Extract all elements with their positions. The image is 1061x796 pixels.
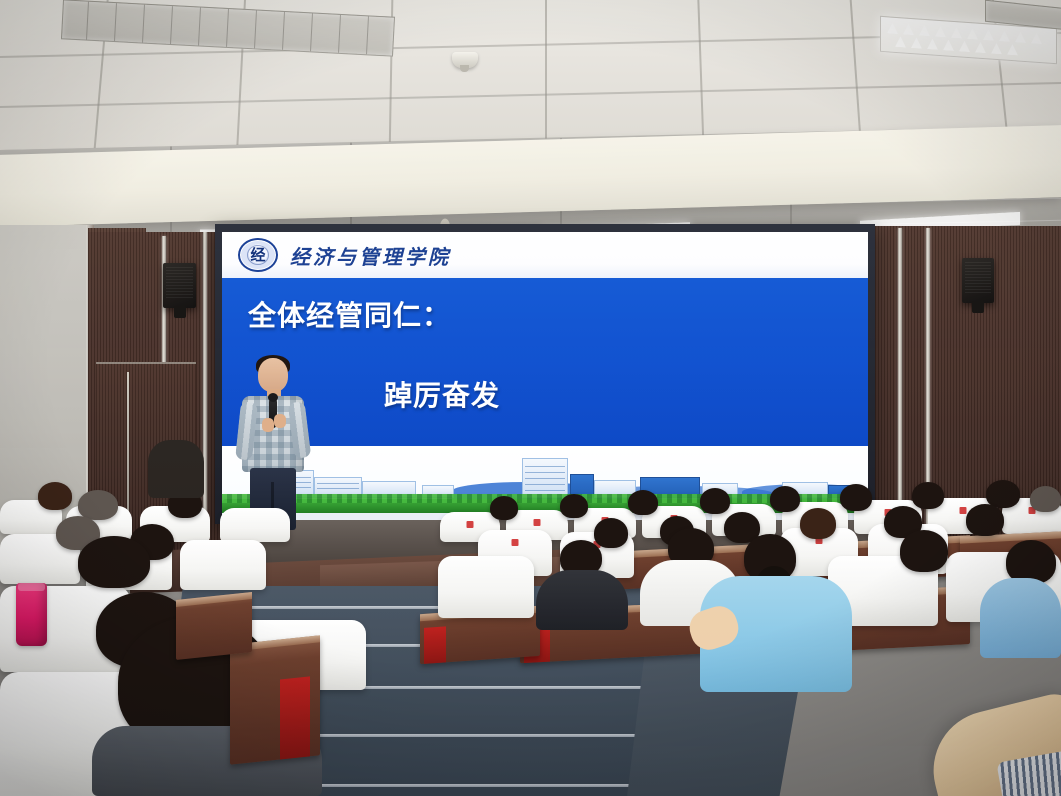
emblem-glyph: 经	[250, 248, 265, 263]
attendee-head	[594, 518, 628, 548]
attendee-head	[840, 484, 872, 511]
slide-header: 经 经济与管理学院	[222, 232, 868, 278]
attendee-head	[912, 482, 944, 509]
slide-body: 全体经管同仁： 踔厉奋发 笃行不怠 攻坚克难 全员参与 全情投入 全力以赴	[222, 278, 868, 446]
desk	[230, 635, 320, 764]
wall-speaker-right	[962, 258, 994, 303]
chair	[220, 508, 290, 542]
recessed-light-panel	[61, 0, 395, 57]
presenter-hand-right	[274, 414, 286, 428]
desk	[176, 592, 252, 660]
attendee-dark-clothing	[148, 440, 204, 498]
attendee-shoulders	[980, 578, 1061, 658]
chair	[438, 556, 534, 618]
university-emblem-icon: 经	[238, 238, 278, 272]
chair	[180, 540, 266, 590]
attendee-head	[986, 480, 1020, 508]
lecture-hall-photo: 经 经济与管理学院 全体经管同仁： 踔厉奋发 笃行不怠 攻坚克难 全员参与 全情…	[0, 0, 1061, 796]
presentation-screen: 经 经济与管理学院 全体经管同仁： 踔厉奋发 笃行不怠 攻坚克难 全员参与 全情…	[222, 232, 868, 520]
attendee-head	[1030, 486, 1061, 512]
attendee-head	[490, 496, 518, 520]
presenter-head	[258, 358, 288, 392]
presenter-hand-left	[262, 418, 274, 432]
speaker-at-front	[236, 358, 312, 530]
pink-thermos	[16, 583, 47, 646]
attendee-head	[78, 490, 118, 520]
attendee-head	[560, 494, 588, 518]
attendee-head	[78, 536, 150, 588]
slide-r1-c1: 踔厉奋发	[384, 376, 500, 416]
smoke-detector	[452, 52, 478, 68]
attendee-head	[38, 482, 72, 510]
attendee-head	[628, 490, 658, 515]
attendee-head	[700, 488, 730, 514]
attendee-head	[770, 486, 800, 512]
wall-speaker-left	[163, 263, 196, 308]
attendee-head	[800, 508, 836, 539]
slide-heading: 全体经管同仁：	[248, 296, 868, 336]
attendee-head	[966, 504, 1004, 536]
institution-name: 经济与管理学院	[290, 241, 451, 270]
attendee-head	[900, 530, 948, 572]
attendee-shoulders	[536, 570, 628, 630]
